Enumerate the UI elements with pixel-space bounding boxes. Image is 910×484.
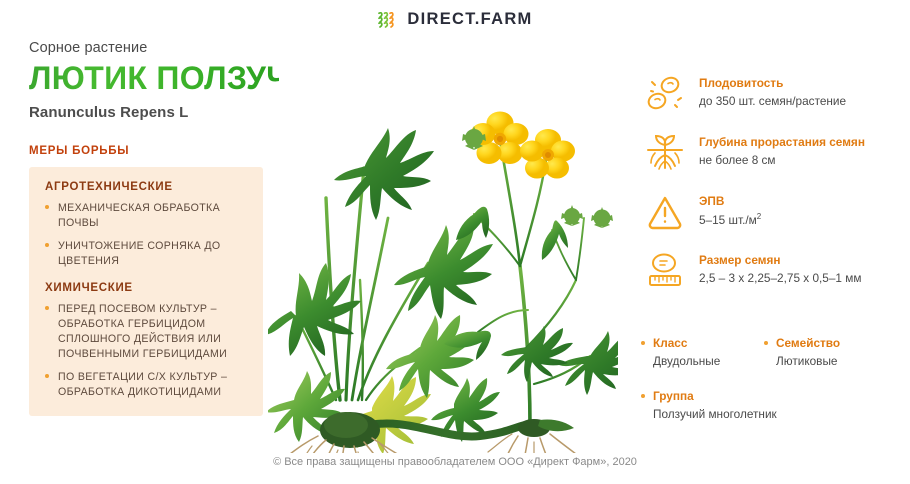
list-item-text: ПО ВЕГЕТАЦИИ С/Х КУЛЬТУР – ОБРАБОТКА ДИК… <box>58 371 227 398</box>
facts-panel: Плодовитость до 350 шт. семян/растение <box>645 74 903 310</box>
taxonomy-row: Группа Ползучий многолетник <box>641 389 907 421</box>
bullet-dot-icon <box>641 394 645 398</box>
leaf <box>501 326 618 395</box>
taxonomy-key: Семейство <box>764 336 887 350</box>
infographic-page: DIRECT.FARM Сорное растение ЛЮТИК ПОЛЗУЧ… <box>0 0 910 484</box>
direct-farm-wave-icon <box>377 10 398 29</box>
bullet-dot-icon <box>45 243 49 247</box>
measures-group-chemical: ХИМИЧЕСКИЕ ПЕРЕД ПОСЕВОМ КУЛЬТУР – ОБРАБ… <box>45 282 247 400</box>
seed-ruler-icon <box>645 251 685 291</box>
list-item-text: МЕХАНИЧЕСКАЯ ОБРАБОТКА ПОЧВЫ <box>58 202 220 229</box>
fact-body: ЭПВ 5–15 шт./м2 <box>699 192 761 229</box>
fact-value: 2,5 – 3 x 2,25–2,75 x 0,5–1 мм <box>699 271 861 287</box>
measures-group-title: ХИМИЧЕСКИЕ <box>45 282 247 294</box>
fact-body: Глубина прорастания семян не более 8 см <box>699 133 865 169</box>
bullet-dot-icon <box>641 341 645 345</box>
taxonomy-value: Ползучий многолетник <box>641 407 907 421</box>
kicker-label: Сорное растение <box>29 40 279 56</box>
measures-list: ПЕРЕД ПОСЕВОМ КУЛЬТУР – ОБРАБОТКА ГЕРБИЦ… <box>45 302 247 400</box>
fact-body: Плодовитость до 350 шт. семян/растение <box>699 74 846 110</box>
taxonomy-key-text: Класс <box>653 336 687 350</box>
bullet-dot-icon <box>45 306 49 310</box>
measures-list: МЕХАНИЧЕСКАЯ ОБРАБОТКА ПОЧВЫ УНИЧТОЖЕНИЕ… <box>45 201 247 269</box>
list-item: УНИЧТОЖЕНИЕ СОРНЯКА ДО ЦВЕТЕНИЯ <box>45 239 247 269</box>
measures-group-title: АГРОТЕХНИЧЕСКИЕ <box>45 181 247 193</box>
fact-label: Глубина прорастания семян <box>699 135 865 150</box>
latin-name: Ranunculus Repens L <box>29 104 279 121</box>
fact-label: ЭПВ <box>699 194 761 209</box>
taxonomy-item-family: Семейство Лютиковые <box>764 336 887 368</box>
taxonomy-key: Группа <box>641 389 907 403</box>
measures-heading: МЕРЫ БОРЬБЫ <box>29 145 279 157</box>
fact-value: не более 8 см <box>699 153 865 169</box>
leaf <box>394 225 493 319</box>
footer-copyright: © Все права защищены правообладателем ОО… <box>0 456 910 468</box>
taxonomy-value: Двудольные <box>641 354 764 368</box>
taxonomy-key: Класс <box>641 336 764 350</box>
fact-row-germination-depth: Глубина прорастания семян не более 8 см <box>645 133 903 173</box>
taxonomy-key-text: Семейство <box>776 336 840 350</box>
fact-value-superscript: 2 <box>757 212 761 221</box>
list-item-text: ПЕРЕД ПОСЕВОМ КУЛЬТУР – ОБРАБОТКА ГЕРБИЦ… <box>58 303 227 360</box>
fact-row-epv: ЭПВ 5–15 шт./м2 <box>645 192 903 232</box>
list-item: МЕХАНИЧЕСКАЯ ОБРАБОТКА ПОЧВЫ <box>45 201 247 231</box>
seeds-icon <box>645 74 685 114</box>
flower <box>471 112 576 179</box>
fact-value: 5–15 шт./м2 <box>699 212 761 229</box>
list-item: ПО ВЕГЕТАЦИИ С/Х КУЛЬТУР – ОБРАБОТКА ДИК… <box>45 370 247 400</box>
bullet-dot-icon <box>764 341 768 345</box>
taxonomy-value: Лютиковые <box>764 354 887 368</box>
page-title: ЛЮТИК ПОЛЗУЧИЙ <box>29 62 279 96</box>
taxonomy-key-text: Группа <box>653 389 694 403</box>
fact-label: Размер семян <box>699 253 861 268</box>
leaf <box>334 128 434 220</box>
measures-group-agrotechnical: АГРОТЕХНИЧЕСКИЕ МЕХАНИЧЕСКАЯ ОБРАБОТКА П… <box>45 181 247 269</box>
list-item-text: УНИЧТОЖЕНИЕ СОРНЯКА ДО ЦВЕТЕНИЯ <box>58 240 221 267</box>
leaf <box>386 315 477 398</box>
taxonomy-panel: Класс Двудольные Семейство Лютиковые Гру… <box>641 336 907 421</box>
fact-row-fertility: Плодовитость до 350 шт. семян/растение <box>645 74 903 114</box>
fact-body: Размер семян 2,5 – 3 x 2,25–2,75 x 0,5–1… <box>699 251 861 287</box>
bullet-dot-icon <box>45 374 49 378</box>
fact-value-text: 5–15 шт./м <box>699 213 757 227</box>
warning-triangle-icon <box>645 192 685 232</box>
measures-box: АГРОТЕХНИЧЕСКИЕ МЕХАНИЧЕСКАЯ ОБРАБОТКА П… <box>29 167 263 416</box>
left-column: Сорное растение ЛЮТИК ПОЛЗУЧИЙ Ranunculu… <box>29 40 279 416</box>
bullet-dot-icon <box>45 205 49 209</box>
plant-illustration <box>268 48 618 453</box>
taxonomy-row: Класс Двудольные Семейство Лютиковые <box>641 336 907 368</box>
taxonomy-item-class: Класс Двудольные <box>641 336 764 368</box>
list-item: ПЕРЕД ПОСЕВОМ КУЛЬТУР – ОБРАБОТКА ГЕРБИЦ… <box>45 302 247 362</box>
fact-label: Плодовитость <box>699 76 846 91</box>
taxonomy-item-group: Группа Ползучий многолетник <box>641 389 907 421</box>
sprout-roots-icon <box>645 133 685 173</box>
fact-row-seed-size: Размер семян 2,5 – 3 x 2,25–2,75 x 0,5–1… <box>645 251 903 291</box>
brand-name: DIRECT.FARM <box>407 11 532 28</box>
fact-value: до 350 шт. семян/растение <box>699 94 846 110</box>
leaf <box>268 263 361 356</box>
brand-logo: DIRECT.FARM <box>0 10 910 29</box>
